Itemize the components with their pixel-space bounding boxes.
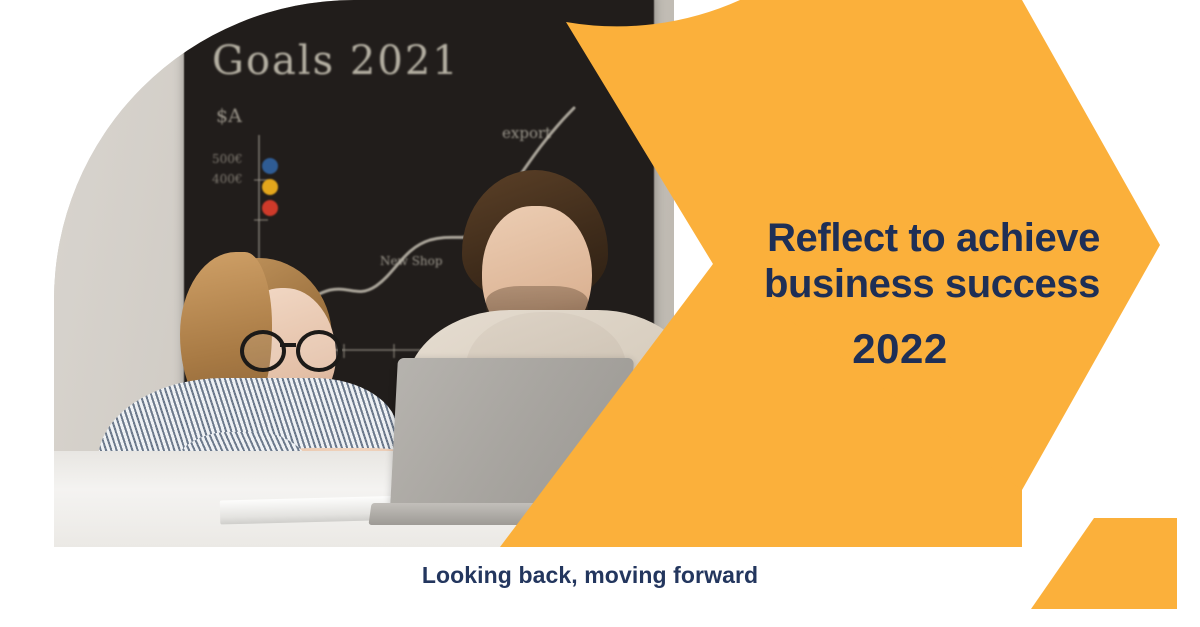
year-label: 2022	[700, 325, 1100, 373]
chalkboard-y-axis-label: $A	[216, 105, 242, 127]
hero-photo: Goals 2021 $A 500€ 400€	[54, 0, 674, 547]
chalkboard-tick-1: 500€	[212, 152, 243, 166]
magnet-yellow	[262, 179, 278, 195]
chalkboard-magnets	[262, 158, 279, 221]
marketing-banner: Goals 2021 $A 500€ 400€	[0, 0, 1200, 627]
headline-line-1: Reflect to achieve	[700, 216, 1100, 262]
chalkboard-series-label-export: export	[502, 124, 551, 142]
chalkboard-tick-2: 400€	[212, 172, 243, 186]
headline-line-2: business success	[700, 262, 1100, 308]
chalkboard-title: Goals 2021	[212, 38, 460, 84]
chalkboard-series-label-newshop: New Shop	[380, 254, 443, 268]
tagline: Looking back, moving forward	[240, 562, 940, 589]
photo-content: Goals 2021 $A 500€ 400€	[54, 0, 674, 547]
magnet-red	[262, 200, 278, 216]
headline: Reflect to achieve business success	[700, 216, 1100, 307]
corner-trapezoid-shape	[1031, 518, 1177, 609]
laptop-screen	[390, 358, 634, 508]
eyeglasses-icon	[240, 330, 348, 368]
magnet-blue	[262, 158, 278, 174]
laptop-base	[368, 503, 643, 525]
